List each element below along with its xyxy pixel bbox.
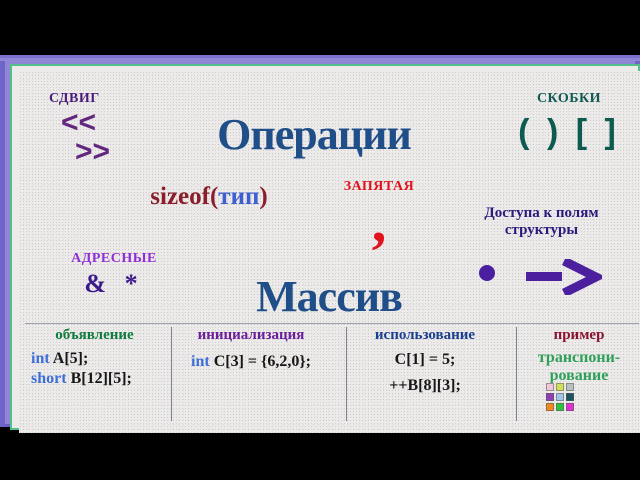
slide-inner-frame: СДВИГ << >> Операции СКОБКИ ( ) [ ] size… [0,61,640,427]
column-header: объявление [25,327,164,344]
table-top-rule [25,323,639,324]
address-symbols: & * [39,269,189,299]
shift-label: СДВИГ [49,91,169,107]
page-title: Операции [169,109,459,160]
sizeof-keyword: sizeof( [150,183,218,210]
field-access-label: Доступа к полям структуры [434,205,640,240]
column-body: int C[3] = {6,2,0}; [171,352,331,372]
table-column-usage: использование C[1] = 5; ++B[8][3]; [346,327,504,396]
color-swatch-2 [556,383,564,391]
slide-outer-frame: СДВИГ << >> Операции СКОБКИ ( ) [ ] size… [0,55,640,427]
sizeof-expression: sizeof(тип) [94,183,324,211]
color-swatch-5 [556,393,564,401]
arrow-operator-icon [526,259,602,300]
code-line: short B[12][5]; [31,369,164,389]
example-line: транспони- [516,349,640,367]
color-swatch-7 [546,403,554,411]
sizeof-close-paren: ) [259,183,267,210]
column-header: пример [516,327,640,344]
shift-right-symbol: >> [75,138,169,167]
field-access-symbols [434,253,640,299]
dot-operator-icon [479,265,495,281]
example-line: рование [516,367,640,385]
address-label: АДРЕСНЫЕ [39,251,189,267]
brackets-label: СКОБКИ [489,91,640,107]
field-access-label-line1: Доступа к полям [434,205,640,222]
array-title: Массив [199,271,459,322]
color-swatch-3 [566,383,574,391]
table-column-declaration: объявление int A[5]; short B[12][5]; [25,327,164,389]
shift-symbols: << >> [49,109,169,166]
shift-left-symbol: << [61,109,169,138]
column-body: транспони- рование [516,349,640,384]
table-column-example: пример транспони- рование [516,327,640,384]
table-column-initialization: инициализация int C[3] = {6,2,0}; [171,327,331,372]
field-access-label-line2: структуры [434,222,640,239]
color-swatch-4 [546,393,554,401]
sizeof-type: тип [218,183,259,210]
slide-canvas: СДВИГ << >> Операции СКОБКИ ( ) [ ] size… [19,71,640,433]
color-matrix-icon [546,383,574,411]
operations-table: объявление int A[5]; short B[12][5]; ини… [19,323,640,433]
slide-green-border: СДВИГ << >> Операции СКОБКИ ( ) [ ] size… [10,64,640,430]
code-line: C[1] = 5; [346,350,504,370]
column-header: использование [346,327,504,344]
color-swatch-8 [556,403,564,411]
brackets-symbols: ( ) [ ] [489,113,640,152]
code-line: int C[3] = {6,2,0}; [171,352,331,372]
column-header: инициализация [171,327,331,344]
column-body: int A[5]; short B[12][5]; [25,349,164,389]
code-line: int A[5]; [31,349,164,369]
color-swatch-1 [546,383,554,391]
comma-symbol: , [319,193,439,251]
column-body: C[1] = 5; ++B[8][3]; [346,350,504,396]
code-line: ++B[8][3]; [346,376,504,396]
color-swatch-6 [566,393,574,401]
slide-stage: СДВИГ << >> Операции СКОБКИ ( ) [ ] size… [0,0,640,480]
color-swatch-9 [566,403,574,411]
